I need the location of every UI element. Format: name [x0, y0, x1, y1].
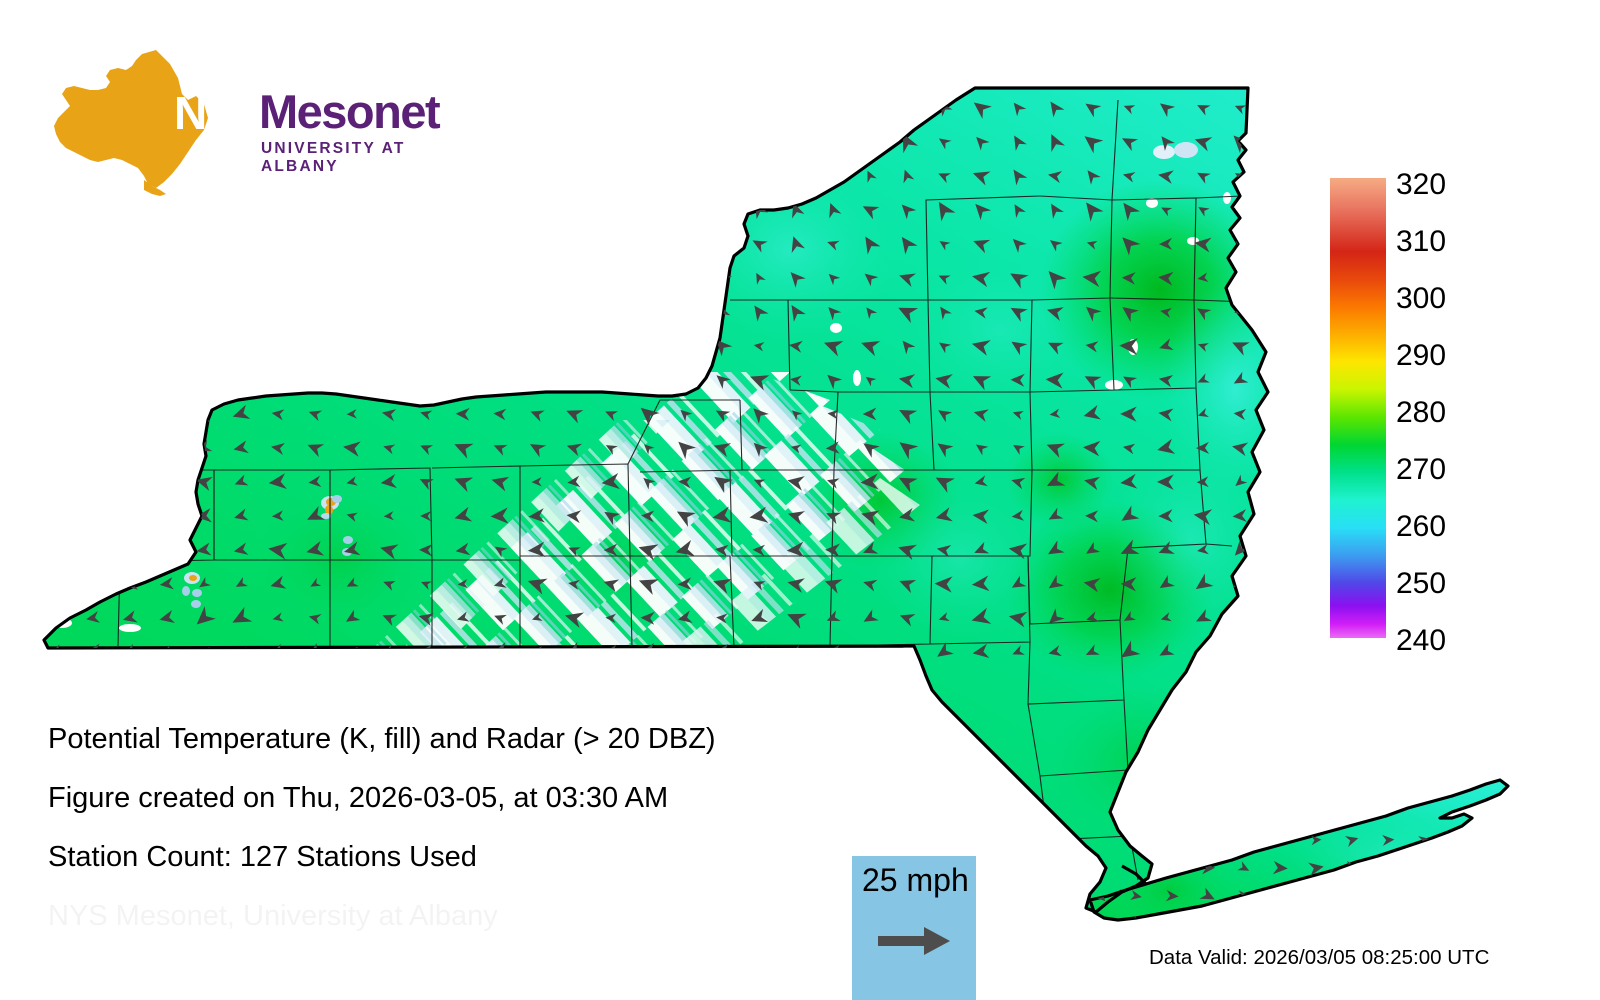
wind-speed-key-label: 25 mph: [862, 862, 969, 899]
data-valid-timestamp: Data Valid: 2026/03/05 08:25:00 UTC: [1149, 946, 1489, 970]
figure-faint-footer: NYS Mesonet, University at Albany: [48, 900, 498, 933]
colorbar-tick: 310: [1396, 227, 1446, 257]
temperature-colorbar: [1330, 178, 1386, 638]
wind-speed-key: 25 mph: [852, 856, 976, 1000]
colorbar-tick-labels: 320 310 300 290 280 270 260 250 240: [1396, 160, 1516, 660]
colorbar-tick: 240: [1396, 626, 1446, 656]
colorbar-tick: 260: [1396, 512, 1446, 542]
colorbar-tick: 320: [1396, 170, 1446, 200]
logo-nys-text: NYS: [174, 90, 266, 136]
colorbar-tick: 250: [1396, 569, 1446, 599]
colorbar-tick: 280: [1396, 398, 1446, 428]
colorbar-tick: 300: [1396, 284, 1446, 314]
figure-title: Potential Temperature (K, fill) and Rada…: [48, 723, 716, 756]
colorbar-tick: 290: [1396, 341, 1446, 371]
nys-mesonet-logo: NYS Mesonet UNIVERSITY AT ALBANY: [48, 48, 408, 198]
colorbar-tick: 270: [1396, 455, 1446, 485]
logo-university-text: UNIVERSITY AT ALBANY: [261, 140, 408, 176]
figure-created-text: Figure created on Thu, 2026-03-05, at 03…: [48, 782, 668, 815]
right-arrow-icon: [878, 924, 952, 958]
logo-mesonet-text: Mesonet: [259, 88, 439, 135]
station-count-text: Station Count: 127 Stations Used: [48, 841, 477, 874]
